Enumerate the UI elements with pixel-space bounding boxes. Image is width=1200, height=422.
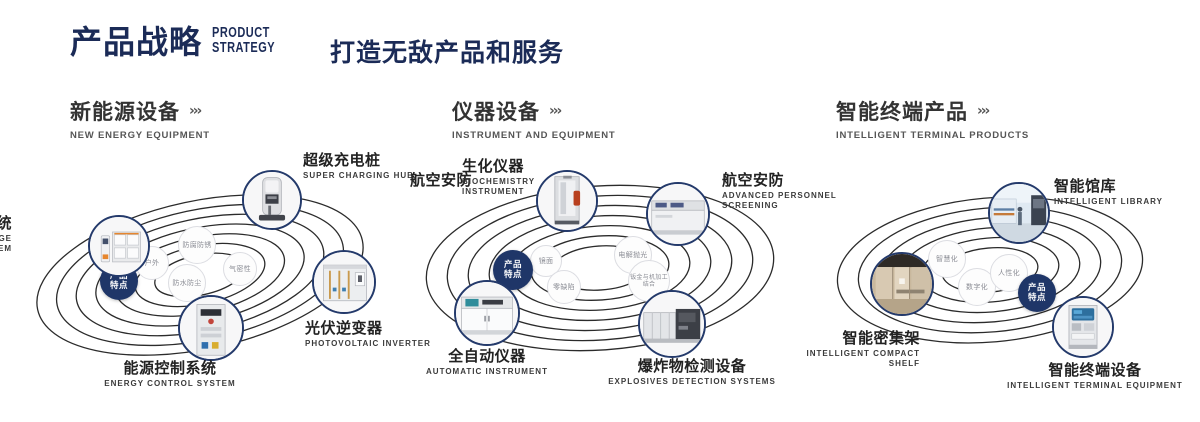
label-en-line1: INTELLIGENT COMPACT [720, 349, 920, 359]
cluster-new-energy-equipment: 防腐防锈 户外 气密性 防水防尘 产品 特点 [0, 150, 400, 400]
feature-bubble-label: 镜面 [539, 257, 554, 266]
label-cn: 储能系统 [0, 215, 12, 232]
section-title-instrument: 仪器设备 ››› INSTRUMENT AND EQUIPMENT [452, 96, 615, 141]
feature-bubble-label: 钣金与机加工结合 [629, 274, 669, 289]
library-room-icon [990, 184, 1048, 242]
core-bubble-line2: 特点 [1028, 293, 1046, 303]
section-title-new-energy: 新能源设备 ››› NEW ENERGY EQUIPMENT [70, 96, 210, 141]
node-energy-storage-system[interactable] [88, 215, 150, 277]
label-energy-storage-system: 储能系统 ENERGY STORAGE SYSTEM [0, 215, 12, 254]
label-en: EXPLOSIVES DETECTION SYSTEMS [586, 377, 798, 387]
core-bubble-line1: 产品 [1028, 283, 1046, 293]
label-en-line1: BIOCHEMISTRY [462, 177, 535, 187]
label-biochemistry-instrument: 生化仪器 BIOCHEMISTRY INSTRUMENT [462, 158, 535, 197]
label-super-charging-hub: 超级充电桩 SUPER CHARGING HUB [303, 152, 414, 181]
label-en: AUTOMATIC INSTRUMENT [402, 367, 572, 377]
node-photovoltaic-inverter[interactable] [312, 250, 376, 314]
page-title-en-line2: STRATEGY [212, 41, 275, 56]
auto-analyzer-icon [456, 282, 518, 344]
chevron-right-icon: ››› [189, 103, 200, 119]
label-intelligent-terminal-equipment: 智能终端设备 INTELLIGENT TERMINAL EQUIPMENT [990, 362, 1200, 391]
label-intelligent-library: 智能馆库 INTELLIGENT LIBRARY [1054, 178, 1163, 207]
node-explosives-detection-systems[interactable] [638, 290, 706, 358]
core-bubble-line2: 特点 [110, 281, 128, 291]
feature-bubble-label: 零缺陷 [553, 283, 575, 292]
page-title-cn: 产品战略 [70, 26, 202, 58]
section-title-intelligent-terminal: 智能终端产品 ››› INTELLIGENT TERMINAL PRODUCTS [836, 96, 1029, 141]
feature-bubble-zero-defect: 零缺陷 [547, 270, 581, 304]
feature-bubble-airtight: 气密性 [223, 252, 257, 286]
node-intelligent-terminal-equipment[interactable] [1052, 296, 1114, 358]
label-en: INTELLIGENT LIBRARY [1054, 197, 1163, 207]
label-cn: 全自动仪器 [402, 348, 572, 365]
feature-bubble-label: 数字化 [966, 283, 988, 292]
battery-cabinet-icon [90, 217, 148, 275]
label-energy-control-system: 能源控制系统 ENERGY CONTROL SYSTEM [55, 360, 285, 389]
control-cabinet-icon [180, 297, 242, 359]
label-intelligent-compact-shelf: 智能密集架 INTELLIGENT COMPACT SHELF [720, 330, 920, 369]
label-en: ENERGY CONTROL SYSTEM [55, 379, 285, 389]
inverter-cabinet-icon [314, 252, 374, 312]
section-title-en: INTELLIGENT TERMINAL PRODUCTS [836, 130, 1029, 141]
label-automatic-instrument: 全自动仪器 AUTOMATIC INSTRUMENT [402, 348, 572, 377]
label-en-line2: SYSTEM [0, 244, 12, 254]
explosive-detector-icon [640, 292, 704, 356]
label-en-line2: INSTRUMENT [462, 187, 535, 197]
section-title-en: INSTRUMENT AND EQUIPMENT [452, 130, 615, 141]
section-title-cn: 仪器设备 ››› [452, 96, 615, 126]
core-bubble-line2: 特点 [504, 270, 522, 280]
label-cn: 能源控制系统 [55, 360, 285, 377]
feature-bubble-label: 气密性 [229, 265, 251, 274]
section-title-cn: 智能终端产品 ››› [836, 96, 1029, 126]
charging-pile-icon [244, 172, 300, 228]
core-bubble-product-features: 产品 特点 [1018, 274, 1056, 312]
label-en-line2: SHELF [720, 359, 920, 369]
node-automatic-instrument[interactable] [454, 280, 520, 346]
kiosk-terminal-icon [1054, 298, 1112, 356]
section-title-en: NEW ENERGY EQUIPMENT [70, 130, 210, 141]
feature-bubble-label: 人性化 [998, 269, 1020, 278]
label-cn: 超级充电桩 [303, 152, 414, 169]
security-scanner-icon [538, 172, 596, 230]
section-label: 仪器设备 [452, 96, 540, 126]
section-label: 智能终端产品 [836, 96, 968, 126]
infographic-canvas: 产品战略 PRODUCT STRATEGY 打造无敌产品和服务 新能源设备 ››… [0, 0, 1200, 422]
feature-bubble-label: 防水防尘 [172, 279, 201, 288]
node-biochemistry-instrument[interactable] [536, 170, 598, 232]
label-en: SUPER CHARGING HUB [303, 171, 414, 181]
label-cn: 智能馆库 [1054, 178, 1163, 195]
label-cn: 智能密集架 [720, 330, 920, 347]
cluster-intelligent-terminal-products: 智慧化 数字化 人性化 产品 特点 [800, 150, 1200, 400]
page-subtitle: 打造无敌产品和服务 [330, 33, 564, 69]
compact-shelf-icon [872, 254, 932, 314]
label-cn: 生化仪器 [462, 158, 535, 175]
feature-bubble-label: 智慧化 [936, 255, 958, 264]
label-en-line1: ENERGY STORAGE [0, 234, 12, 244]
page-title-en: PRODUCT STRATEGY [212, 26, 275, 56]
feature-bubble-label: 电解抛光 [618, 251, 647, 260]
label-en: INTELLIGENT TERMINAL EQUIPMENT [990, 381, 1200, 391]
feature-bubble-anticorrosion: 防腐防锈 [178, 226, 216, 264]
section-label: 新能源设备 [70, 96, 180, 126]
feature-bubble-smart: 智慧化 [928, 240, 966, 278]
feature-bubble-label: 防腐防锈 [182, 241, 211, 250]
node-advanced-personnel-screening[interactable] [646, 182, 710, 246]
section-title-cn: 新能源设备 ››› [70, 96, 210, 126]
page-title: 产品战略 PRODUCT STRATEGY [70, 26, 275, 58]
screening-machine-icon [648, 184, 708, 244]
node-super-charging-hub[interactable] [242, 170, 302, 230]
label-cn: 智能终端设备 [990, 362, 1200, 379]
node-intelligent-library[interactable] [988, 182, 1050, 244]
chevron-right-icon: ››› [977, 103, 988, 119]
chevron-right-icon: ››› [549, 103, 560, 119]
node-intelligent-compact-shelf[interactable] [870, 252, 934, 316]
node-energy-control-system[interactable] [178, 295, 244, 361]
core-bubble-line1: 产品 [504, 260, 522, 270]
